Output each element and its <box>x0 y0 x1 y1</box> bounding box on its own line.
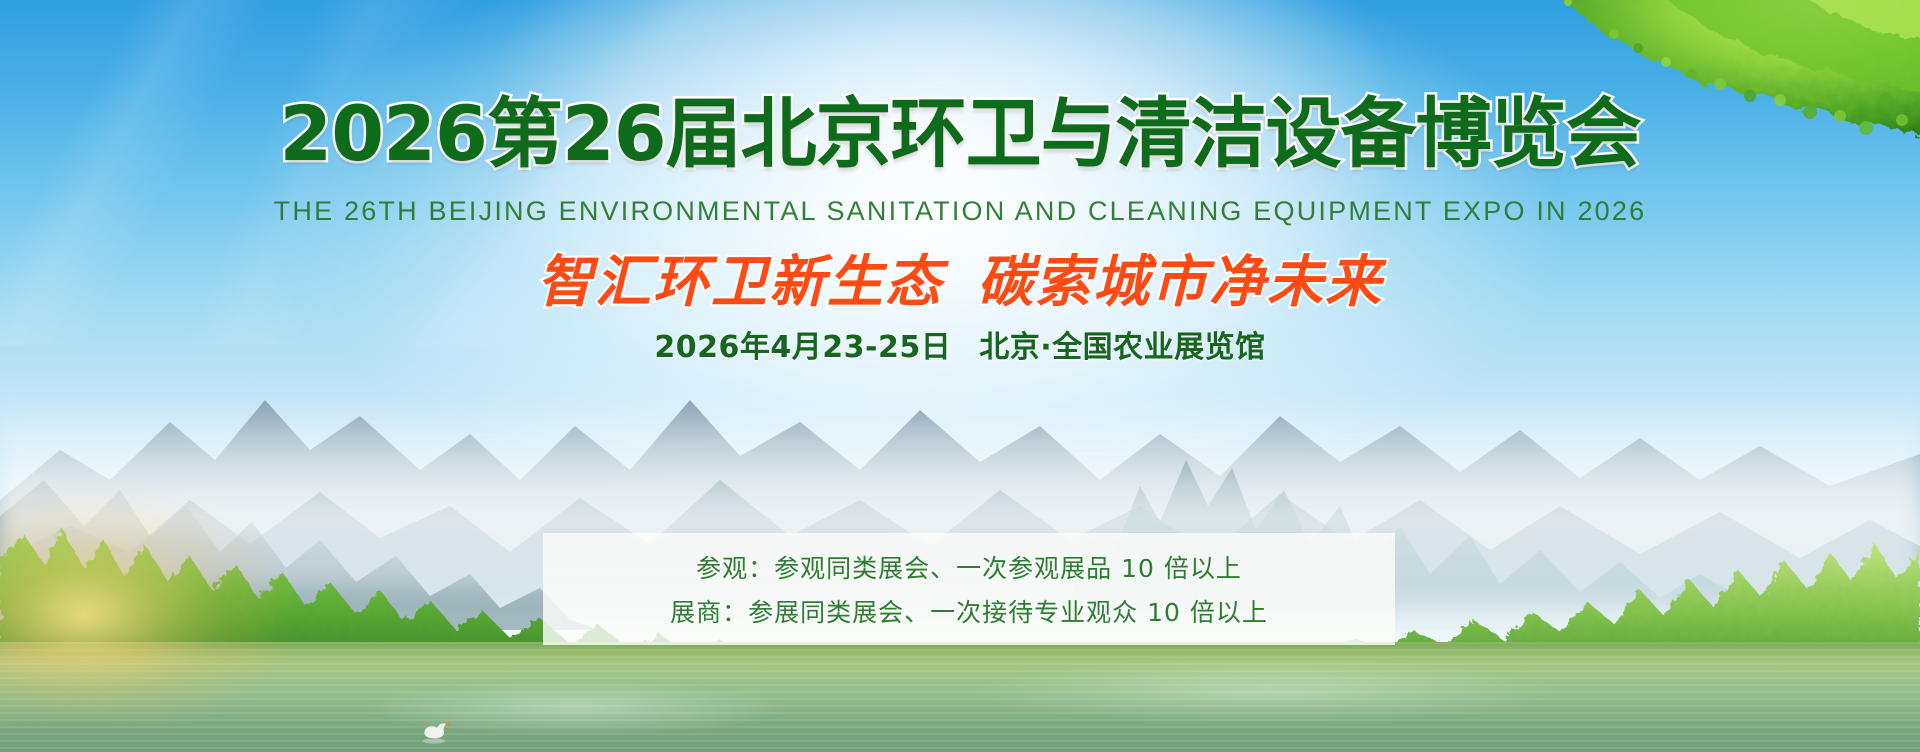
event-venue: 北京·全国农业展览馆 <box>979 330 1265 365</box>
english-subtitle: THE 26TH BEIJING ENVIRONMENTAL SANITATIO… <box>0 196 1920 227</box>
page-title: 2026第26届北京环卫与清洁设备博览会 <box>0 96 1920 172</box>
slogan: 智汇环卫新生态碳索城市净未来 <box>0 250 1920 316</box>
info-line-exhibitor: 展商：参展同类展会、一次接待专业观众 10 倍以上 <box>670 593 1268 629</box>
expo-banner: 2026第26届北京环卫与清洁设备博览会 THE 26TH BEIJING EN… <box>0 0 1920 752</box>
slogan-left: 智汇环卫新生态 <box>537 250 943 315</box>
info-line-visitor: 参观：参观同类展会、一次参观展品 10 倍以上 <box>696 549 1242 585</box>
date-venue-line: 2026年4月23-25日北京·全国农业展览馆 <box>0 322 1920 366</box>
banner-content: 2026第26届北京环卫与清洁设备博览会 THE 26TH BEIJING EN… <box>0 0 1920 752</box>
event-date: 2026年4月23-25日 <box>654 330 951 365</box>
info-box: 参观：参观同类展会、一次参观展品 10 倍以上 展商：参展同类展会、一次接待专业… <box>543 533 1395 645</box>
slogan-right: 碳索城市净未来 <box>977 250 1383 315</box>
